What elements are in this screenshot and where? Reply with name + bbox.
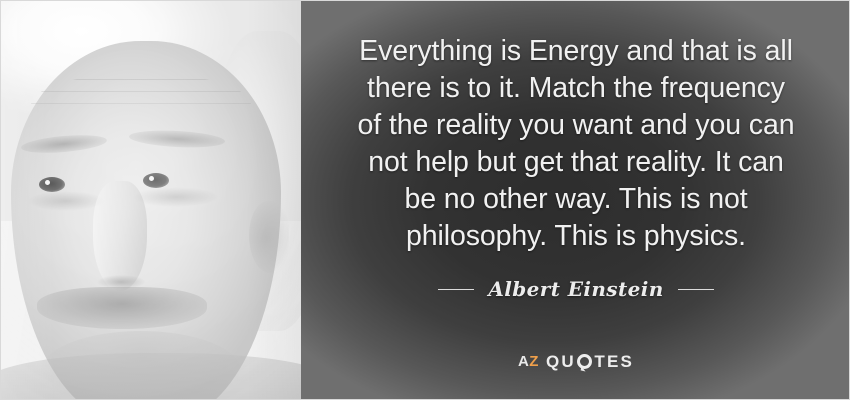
portrait-vignette	[1, 1, 301, 400]
quote-line-6: philosophy. This is physics.	[406, 220, 746, 252]
attribution: Albert Einstein	[438, 277, 713, 301]
portrait-panel	[1, 1, 301, 400]
quote-line-5: be no other way. This is not	[404, 183, 747, 215]
quote-text: Everything is Energy and that is all the…	[341, 33, 811, 255]
quote-line-1: Everything is Energy and that is all	[359, 35, 793, 67]
albert-einstein-portrait-image	[1, 1, 301, 400]
quote-panel: Everything is Energy and that is all the…	[301, 1, 850, 400]
quote-line-2: there is to it. Match the frequency	[367, 72, 785, 104]
logo-quotes-suffix: TES	[594, 353, 634, 370]
rule-right-decoration	[678, 289, 714, 290]
quote-line-3: of the reality you want and you can	[358, 109, 795, 141]
quote-line-4: not help but get that reality. It can	[368, 146, 784, 178]
logo-letter-a: A	[518, 353, 529, 370]
author-name: Albert Einstein	[488, 277, 663, 301]
logo-quotes-prefix: QU	[546, 353, 576, 370]
quote-card: Everything is Energy and that is all the…	[0, 0, 850, 400]
logo-letter-z: Z	[529, 353, 539, 370]
rule-left-decoration	[438, 289, 474, 290]
logo-az-mark: AZ	[518, 354, 539, 369]
logo-quotes-word: QU TES	[546, 353, 634, 370]
speech-bubble-icon	[577, 354, 592, 369]
azquotes-logo[interactable]: AZ QU TES	[301, 353, 850, 370]
